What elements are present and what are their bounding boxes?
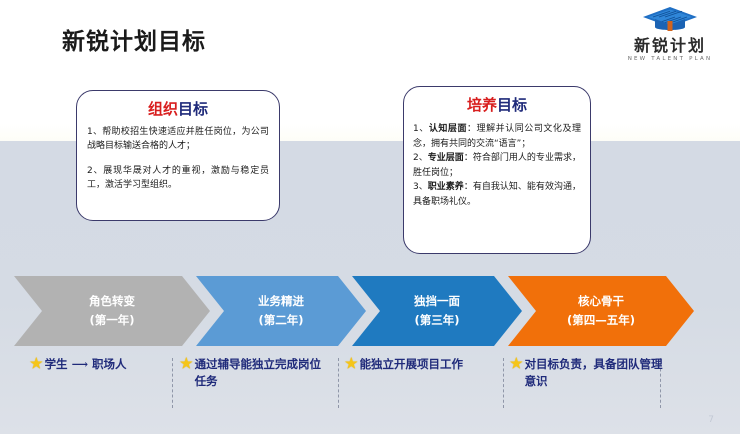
outcome-note-1: ★ 学生 ⟶ 职场人: [30, 356, 170, 373]
page-title: 新锐计划目标: [62, 22, 206, 56]
organization-goal-title: 组织目标: [77, 100, 279, 118]
goal-title-part-b: 目标: [178, 100, 208, 118]
outcome-note-2: ★ 通过辅导能独立完成岗位任务: [180, 356, 332, 390]
note-separator: [503, 358, 504, 408]
cultivation-goal-title: 培养目标: [404, 96, 590, 114]
star-icon: ★: [180, 356, 193, 373]
note-separator: [172, 358, 173, 408]
cultivation-goal-box: 培养目标 1、认知层面：理解并认同公司文化及理念，拥有共同的交流“语言”； 2、…: [403, 86, 591, 254]
stage-name: 业务精进: [258, 292, 304, 311]
stage-arrow-row: 角色转变 (第一年) 业务精进 (第二年) 独挡一面 (第三年) 核心骨干 (第…: [0, 276, 740, 346]
organization-goal-body: 1、帮助校招生快速适应并胜任岗位，为公司战略目标输送合格的人才； 2、展现华晟对…: [77, 125, 279, 192]
note-separator: [338, 358, 339, 408]
star-icon: ★: [510, 356, 523, 373]
goal-title-part-a: 组织: [148, 100, 178, 118]
cultivation-goal-body: 1、认知层面：理解并认同公司文化及理念，拥有共同的交流“语言”； 2、专业层面：…: [404, 122, 590, 209]
stage-year: (第一年): [89, 311, 134, 330]
stage-year: (第四—五年): [567, 311, 635, 330]
stage-arrow-2[interactable]: 业务精进 (第二年): [196, 276, 366, 346]
stage-arrow-4[interactable]: 核心骨干 (第四—五年): [508, 276, 694, 346]
goal-title-part-a: 培养: [467, 96, 497, 114]
outcome-note-4: ★ 对目标负责，具备团队管理意识: [510, 356, 666, 390]
star-icon: ★: [345, 356, 358, 373]
logo-english-text: NEW TALENT PLAN: [614, 55, 726, 63]
page-number: 7: [708, 415, 714, 425]
star-icon: ★: [30, 356, 43, 373]
logo-chinese-text: 新锐计划: [614, 37, 726, 54]
stage-name: 独挡一面: [414, 292, 460, 311]
stage-name: 角色转变: [89, 292, 135, 311]
outcome-note-text: 学生 ⟶ 职场人: [45, 356, 127, 373]
stage-arrow-3[interactable]: 独挡一面 (第三年): [352, 276, 522, 346]
stage-arrow-1[interactable]: 角色转变 (第一年): [14, 276, 210, 346]
cultivation-goal-item: 2、专业层面：符合部门用人的专业需求，胜任岗位；: [413, 151, 581, 180]
graduation-cap-icon: [642, 6, 698, 36]
organization-goal-box: 组织目标 1、帮助校招生快速适应并胜任岗位，为公司战略目标输送合格的人才； 2、…: [76, 90, 280, 221]
brand-logo: 新锐计划 NEW TALENT PLAN: [614, 6, 726, 63]
outcome-note-text: 对目标负责，具备团队管理意识: [525, 356, 666, 390]
outcome-note-3: ★ 能独立开展项目工作: [345, 356, 495, 373]
slide: 新锐计划目标 新锐计划 NEW TALENT PLAN 组织目标 1、帮助校招生…: [0, 0, 740, 434]
outcome-note-row: ★ 学生 ⟶ 职场人 ★ 通过辅导能独立完成岗位任务 ★ 能独立开展项目工作 ★…: [0, 356, 740, 412]
cultivation-goal-item: 1、认知层面：理解并认同公司文化及理念，拥有共同的交流“语言”；: [413, 122, 581, 151]
outcome-note-text: 能独立开展项目工作: [360, 356, 464, 373]
stage-year: (第三年): [414, 311, 459, 330]
stage-name: 核心骨干: [578, 292, 624, 311]
outcome-note-text: 通过辅导能独立完成岗位任务: [195, 356, 332, 390]
organization-goal-item: 2、展现华晟对人才的重视，激励与稳定员工，激活学习型组织。: [87, 164, 269, 192]
organization-goal-item: 1、帮助校招生快速适应并胜任岗位，为公司战略目标输送合格的人才；: [87, 125, 269, 153]
cultivation-goal-item: 3、职业素养：有自我认知、能有效沟通，具备职场礼仪。: [413, 180, 581, 209]
stage-year: (第二年): [258, 311, 303, 330]
goal-title-part-b: 目标: [497, 96, 527, 114]
